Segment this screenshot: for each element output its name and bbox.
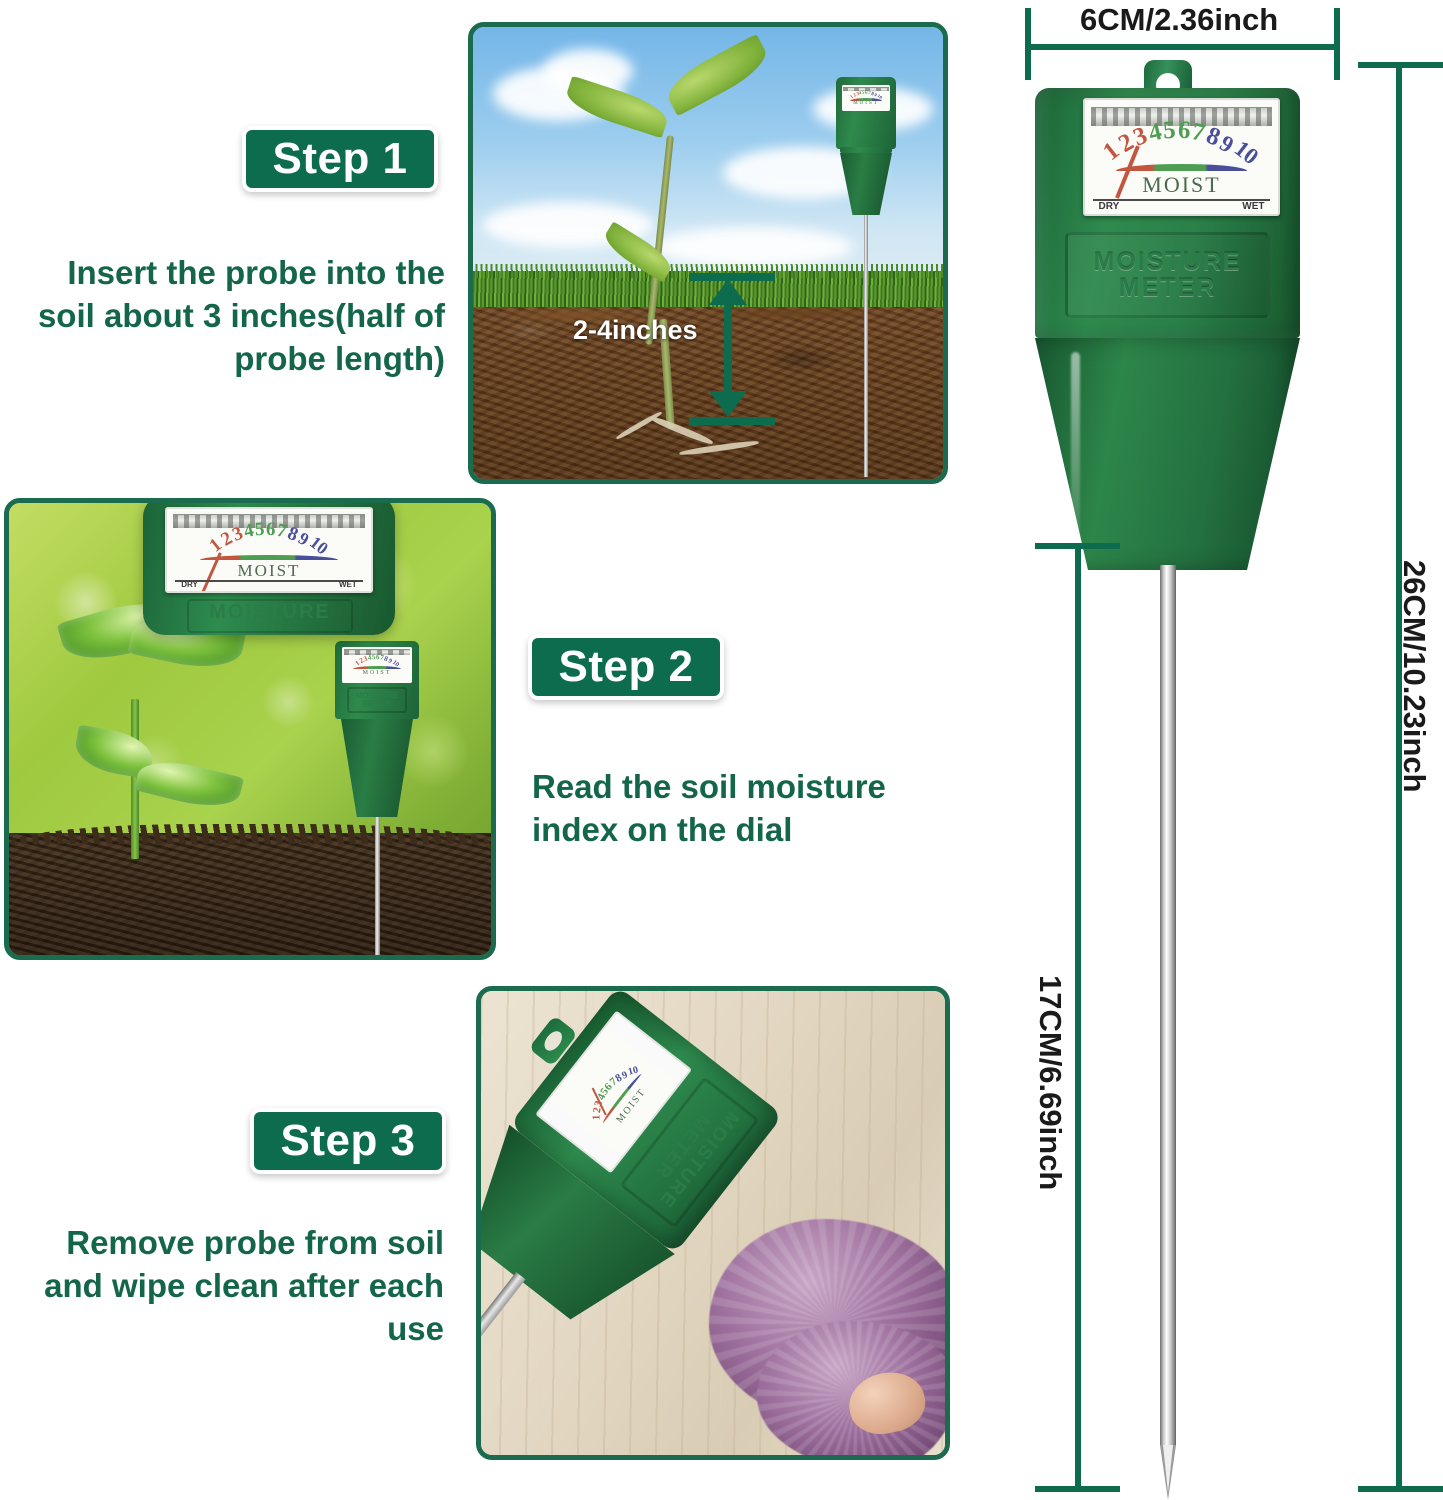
annotation-bottom-cap — [689, 417, 775, 425]
probe-tip-icon — [1160, 1445, 1176, 1500]
meter-in-soil: 12345678910 MOIST MOISTURE METER — [331, 641, 423, 960]
meter-in-soil: 12345678910 MOIST — [833, 69, 899, 479]
dial-tick-arc — [1116, 164, 1247, 171]
arrow-down-icon — [709, 391, 747, 417]
step-1-description: Insert the probe into the soil about 3 i… — [20, 252, 445, 381]
step-3-badge: Step 3 — [250, 1108, 446, 1174]
dial-callout-screen: 12345678910 MOIST DRY WET — [165, 507, 373, 593]
meter-plate — [840, 147, 892, 153]
dial-face: 12345678910 MOIST — [342, 647, 412, 683]
dial-callout: 12345678910 MOIST DRY WET MOISTURE — [143, 498, 395, 635]
product-emboss-plate: MOISTURE METER — [1065, 232, 1270, 318]
dial-dry-label: DRY — [1099, 201, 1120, 212]
meter-head: 12345678910 MOIST MOISTURE METER — [335, 641, 419, 719]
dim-probe-line — [1075, 543, 1081, 1491]
depth-annotation-label: 2-4inches — [573, 315, 698, 346]
dial-number: 5 — [1162, 117, 1176, 143]
dial-number: 10 — [306, 534, 331, 559]
dim-width-right-tick — [1334, 8, 1340, 80]
step-2-badge: Step 2 — [528, 634, 724, 700]
dim-probe-length-label: 17CM/6.69inch — [1032, 975, 1068, 1190]
dial-dry-wet-labels: DRY WET — [167, 580, 371, 589]
cloud-icon — [653, 227, 853, 267]
step-3-description: Remove probe from soil and wipe clean af… — [24, 1222, 444, 1351]
annotation-shaft — [724, 299, 732, 401]
dial-face: 12345678910 MOIST — [842, 85, 890, 111]
meter-emboss-plate: MOISTURE METER — [347, 687, 407, 713]
dim-probe-bottom-tick — [1035, 1486, 1120, 1492]
meter-probe — [864, 215, 868, 477]
dial-number: 6 — [1177, 117, 1191, 143]
step2-photo: 12345678910 MOIST MOISTURE METER 1234567… — [4, 498, 496, 960]
dial-wet-label: WET — [339, 580, 357, 589]
dial-dry-wet-labels: DRY WET — [1085, 201, 1278, 212]
dial-dry-label: DRY — [181, 580, 198, 589]
dim-width-label: 6CM/2.36inch — [1080, 2, 1278, 38]
dial-numbers: 12345678910 — [167, 530, 371, 555]
dial-moist-label: MOIST — [1085, 172, 1278, 198]
product-dial-screen: 12345678910 MOIST DRY WET — [1083, 98, 1280, 216]
meter-head: 12345678910 MOIST — [836, 77, 896, 149]
dial-numbers: 12345678910 — [1085, 130, 1278, 164]
dial-face: 12345678910 MOIST DRY WET — [167, 509, 371, 591]
dim-total-length-label: 26CM/10.23inch — [1396, 560, 1432, 793]
infographic-root: 12345678910 MOIST 2-4inches Step 1 Inser… — [0, 0, 1443, 1500]
step-2-description: Read the soil moisture index on the dial — [532, 766, 932, 852]
dial-moist-label: MOIST — [167, 561, 371, 581]
dial-wet-label: WET — [1242, 201, 1264, 212]
step-1-badge: Step 1 — [242, 126, 438, 192]
step3-photo: 12345678910 MOIST MOISTURE METER — [476, 986, 950, 1460]
dial-moist-label: MOIST — [342, 670, 412, 676]
emboss-line-2: METER — [363, 700, 391, 708]
dial-number: 5 — [254, 520, 265, 540]
product-probe — [1160, 565, 1176, 1445]
emboss-line-1: MOISTURE — [1094, 249, 1242, 275]
callout-emboss-plate: MOISTURE — [187, 599, 353, 633]
emboss-line-2: METER — [1119, 275, 1217, 301]
step1-photo: 12345678910 MOIST 2-4inches — [468, 22, 948, 484]
dial-numbers: 12345678910 — [342, 656, 412, 667]
dial-face: 12345678910 MOIST DRY WET — [1085, 100, 1278, 214]
meter-probe — [375, 817, 380, 960]
product-highlight — [1071, 352, 1080, 557]
meter-taper — [341, 719, 413, 817]
meter-taper — [840, 153, 892, 215]
dial-moist-label: MOIST — [842, 101, 890, 106]
dim-width-line — [1025, 44, 1340, 50]
dial-numbers: 12345678910 — [561, 1037, 648, 1133]
dial-number: 1 — [591, 1114, 602, 1120]
dim-total-bottom-tick — [1358, 1486, 1443, 1492]
dial-numbers: 12345678910 — [842, 92, 890, 100]
meter-dial-screen: 12345678910 MOIST — [342, 647, 412, 683]
dial-tick-arc — [353, 666, 401, 669]
meter-dial-screen: 12345678910 MOIST — [842, 85, 890, 111]
